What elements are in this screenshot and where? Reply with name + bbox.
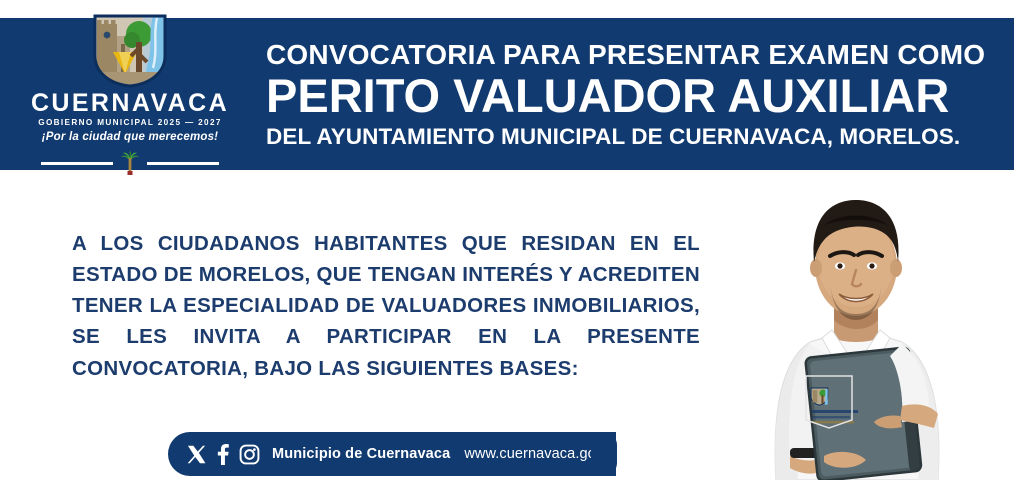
rule-line-right [147, 162, 219, 165]
facebook-icon[interactable] [216, 444, 230, 465]
logo-ornament-rule [30, 150, 230, 176]
cuernavaca-logo: CUERNAVACA GOBIERNO MUNICIPAL 2025 — 202… [0, 18, 260, 170]
footer-account-name[interactable]: Municipio de Cuernavaca [272, 446, 450, 462]
logo-wordmark: CUERNAVACA [31, 91, 229, 116]
x-twitter-icon[interactable] [186, 444, 207, 465]
headline-block: CONVOCATORIA PARA PRESENTAR EXAMEN COMO … [260, 39, 1014, 149]
palm-tree-icon [119, 150, 141, 176]
logo-slogan: ¡Por la ciudad que merecemos! [42, 132, 218, 144]
person-photo [706, 170, 1006, 480]
headline-line-2: PERITO VALUADOR AUXILIAR [266, 71, 998, 122]
footer-website-url[interactable]: www.cuernavaca.gob.mx [464, 446, 627, 462]
header-band: CUERNAVACA GOBIERNO MUNICIPAL 2025 — 202… [0, 18, 1014, 170]
footer-bar: Municipio de Cuernavaca www.cuernavaca.g… [168, 432, 616, 476]
headline-line-3: DEL AYUNTAMIENTO MUNICIPAL DE CUERNAVACA… [266, 124, 998, 149]
body-copy: A LOS CIUDADANOS HABITANTES QUE RESIDAN … [72, 228, 700, 384]
instagram-icon[interactable] [239, 444, 260, 465]
social-icons [186, 444, 260, 465]
poster-canvas: CUERNAVACA GOBIERNO MUNICIPAL 2025 — 202… [0, 0, 1024, 480]
cuernavaca-coat-of-arms-icon [91, 14, 169, 88]
logo-subtitle: GOBIERNO MUNICIPAL 2025 — 2027 [38, 119, 222, 127]
rule-line-left [41, 162, 113, 165]
body-paragraph: A LOS CIUDADANOS HABITANTES QUE RESIDAN … [72, 228, 700, 384]
headline-line-1: CONVOCATORIA PARA PRESENTAR EXAMEN COMO [266, 39, 998, 70]
